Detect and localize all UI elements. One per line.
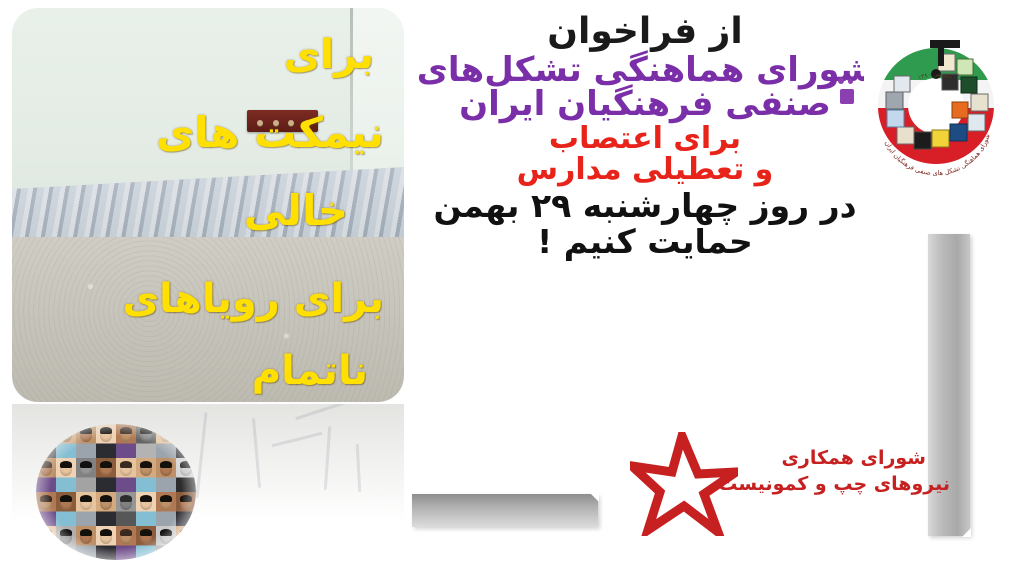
collage-portrait <box>56 492 76 526</box>
purple-accent-mark <box>838 78 858 106</box>
headline-date-line: در روز چهارشنبه ۲۹ بهمن <box>392 189 898 223</box>
collage-portrait <box>76 458 96 492</box>
collage-portrait <box>36 526 56 560</box>
headline-closure-line: و تعطیلی مدارس <box>410 155 880 186</box>
poster-canvas: برای نیمکت های خالی برای رویاهای ناتمام … <box>0 0 1024 576</box>
headline-support-line: حمایت کنیم ! <box>410 225 880 259</box>
collage-portrait <box>156 458 176 492</box>
footer-line-1: شورای همکاری <box>700 446 950 472</box>
classroom-photo: برای نیمکت های خالی برای رویاهای ناتمام <box>12 8 404 402</box>
collage-portrait <box>76 492 96 526</box>
collage-portrait <box>136 424 156 458</box>
announcement-headline: از فراخوان شورای هماهنگی تشکل‌های صنفی ف… <box>410 14 880 259</box>
collage-portrait <box>176 526 196 560</box>
collage-portrait <box>96 458 116 492</box>
children-portrait-collage <box>36 424 196 560</box>
collage-portrait <box>36 424 56 458</box>
collage-portrait <box>116 458 136 492</box>
footer-line-2: نیروهای چپ و کمونیست <box>700 472 950 498</box>
collage-portrait <box>116 492 136 526</box>
collage-portrait <box>116 526 136 560</box>
collage-portrait <box>96 492 116 526</box>
collage-portrait <box>176 458 196 492</box>
headline-strike-line: برای اعتصاب <box>410 124 880 155</box>
collage-portrait <box>96 526 116 560</box>
supporting-organisation: شورای همکاری نیروهای چپ و کمونیست <box>700 446 950 497</box>
collage-portrait <box>176 492 196 526</box>
collage-portrait <box>116 424 136 458</box>
logo-emblem-icon: تاسیس ۱۳۸۰ شورای هماهنگی تشکل های صنفی ف… <box>864 30 1008 190</box>
teachers-union-logo: تاسیس ۱۳۸۰ شورای هماهنگی تشکل های صنفی ف… <box>864 30 1008 190</box>
collage-portrait <box>76 526 96 560</box>
collage-portrait <box>156 526 176 560</box>
collage-portrait <box>96 424 116 458</box>
collage-portrait <box>56 424 76 458</box>
collage-portrait <box>176 424 196 458</box>
overlay-line-3: خالی <box>244 186 348 235</box>
collage-portrait <box>156 424 176 458</box>
collage-portrait <box>56 526 76 560</box>
collage-portrait <box>136 526 156 560</box>
overlay-line-1: برای <box>284 32 374 78</box>
collage-portrait <box>136 492 156 526</box>
collage-portrait <box>156 492 176 526</box>
decorative-grey-bar <box>412 494 598 527</box>
overlay-line-4: برای رویاهای <box>122 276 384 322</box>
classroom-photo-scene: برای نیمکت های خالی برای رویاهای ناتمام <box>12 8 404 402</box>
overlay-line-2: نیمکت های <box>156 108 384 157</box>
collage-portrait <box>136 458 156 492</box>
headline-org-line-2: صنفی فرهنگیان ایران <box>410 87 880 122</box>
collage-portrait <box>36 492 56 526</box>
collage-portrait <box>76 424 96 458</box>
headline-org-line-1: شورای هماهنگی تشکل‌های <box>376 53 914 88</box>
headline-call-line: از فراخوان <box>410 14 880 51</box>
collage-portrait <box>56 458 76 492</box>
overlay-line-5: ناتمام <box>252 348 368 394</box>
collage-portrait <box>36 458 56 492</box>
